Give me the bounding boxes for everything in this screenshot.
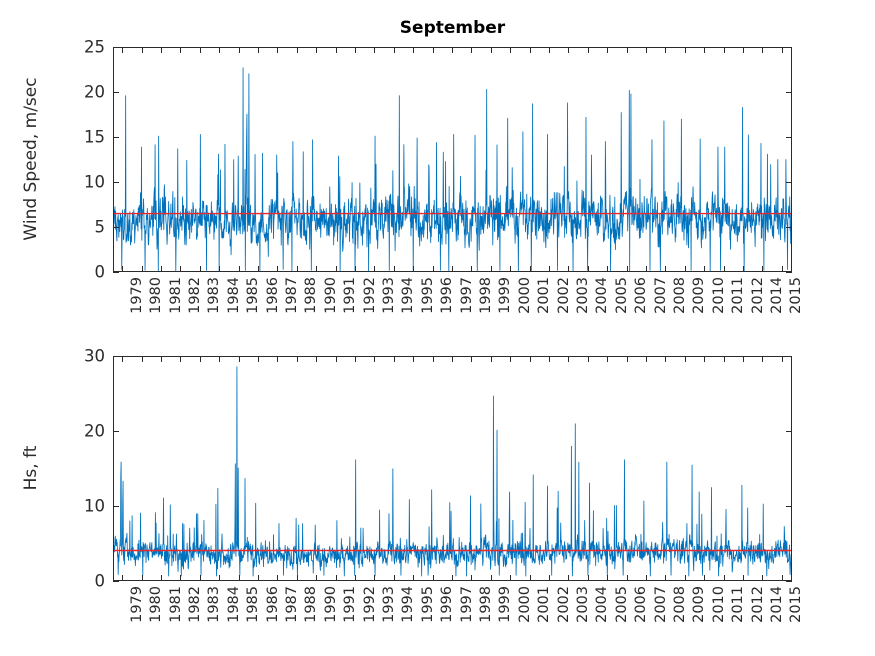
x-tick-mark [549, 47, 550, 53]
x-tick-mark [510, 266, 511, 272]
x-tick-mark [277, 47, 278, 53]
x-tick-label: 2015 [788, 586, 804, 646]
x-tick-mark [374, 356, 375, 362]
x-tick-label: 2006 [633, 277, 649, 337]
x-tick-label: 1998 [478, 277, 494, 337]
x-tick-mark [200, 575, 201, 581]
x-tick-mark [394, 575, 395, 581]
y-tick-mark [786, 137, 792, 138]
x-tick-mark [762, 266, 763, 272]
x-tick-mark [762, 356, 763, 362]
y-tick-label: 30 [49, 347, 105, 366]
x-tick-mark [665, 356, 666, 362]
x-tick-mark [665, 47, 666, 53]
y-tick-mark [113, 227, 119, 228]
x-tick-mark [549, 266, 550, 272]
y-tick-mark [113, 92, 119, 93]
x-tick-label: 1985 [245, 277, 261, 337]
x-tick-mark [122, 575, 123, 581]
x-tick-label: 2003 [575, 586, 591, 646]
y-tick-label: 10 [49, 497, 105, 516]
x-tick-mark [277, 266, 278, 272]
x-tick-label: 2003 [575, 277, 591, 337]
x-tick-mark [549, 575, 550, 581]
y-tick-mark [113, 581, 119, 582]
x-tick-mark [161, 266, 162, 272]
x-tick-label: 1990 [323, 586, 339, 646]
x-tick-mark [258, 575, 259, 581]
y-tick-mark [113, 182, 119, 183]
y-tick-mark [786, 431, 792, 432]
x-tick-mark [588, 575, 589, 581]
x-tick-mark [607, 356, 608, 362]
x-tick-label: 1993 [381, 586, 397, 646]
x-tick-mark [452, 575, 453, 581]
y-tick-label: 20 [49, 83, 105, 102]
x-tick-mark [258, 356, 259, 362]
x-tick-mark [297, 266, 298, 272]
x-tick-label: 1981 [168, 586, 184, 646]
wind-speed-plot-canvas [114, 48, 792, 272]
x-tick-mark [355, 575, 356, 581]
x-tick-label: 1993 [381, 277, 397, 337]
x-tick-label: 2004 [594, 586, 610, 646]
x-tick-label: 2000 [517, 277, 533, 337]
y-tick-label: 10 [49, 173, 105, 192]
x-tick-mark [142, 356, 143, 362]
x-tick-mark [646, 266, 647, 272]
x-tick-label: 1982 [187, 586, 203, 646]
x-tick-mark [491, 575, 492, 581]
x-tick-mark [316, 356, 317, 362]
matlab-figure: September 0510152025 1979198019811982198… [0, 0, 875, 656]
x-tick-mark [180, 47, 181, 53]
x-tick-mark [413, 356, 414, 362]
x-tick-mark [413, 266, 414, 272]
x-tick-mark [219, 356, 220, 362]
x-tick-label: 2001 [536, 586, 552, 646]
x-tick-label: 2015 [788, 277, 804, 337]
x-tick-mark [413, 47, 414, 53]
x-tick-mark [471, 47, 472, 53]
x-tick-mark [200, 266, 201, 272]
x-tick-label: 2001 [536, 277, 552, 337]
x-tick-mark [607, 575, 608, 581]
x-tick-mark [200, 356, 201, 362]
x-tick-mark [374, 266, 375, 272]
x-tick-label: 1980 [148, 586, 164, 646]
x-tick-mark [122, 356, 123, 362]
x-tick-label: 1991 [342, 586, 358, 646]
x-tick-mark [530, 356, 531, 362]
x-tick-mark [627, 575, 628, 581]
x-tick-mark [588, 356, 589, 362]
x-tick-mark [704, 575, 705, 581]
x-tick-label: 1979 [129, 277, 145, 337]
x-tick-mark [530, 266, 531, 272]
data-series-line [114, 68, 792, 271]
x-tick-mark [433, 47, 434, 53]
x-tick-label: 2012 [750, 277, 766, 337]
x-tick-label: 1983 [206, 586, 222, 646]
x-tick-mark [685, 575, 686, 581]
x-tick-mark [239, 356, 240, 362]
x-tick-mark [685, 266, 686, 272]
x-tick-mark [219, 266, 220, 272]
x-tick-mark [646, 356, 647, 362]
x-tick-mark [724, 575, 725, 581]
x-tick-mark [394, 47, 395, 53]
x-tick-mark [452, 356, 453, 362]
x-tick-mark [239, 266, 240, 272]
x-tick-mark [180, 356, 181, 362]
x-tick-mark [627, 266, 628, 272]
x-tick-label: 1981 [168, 277, 184, 337]
x-tick-label: 2008 [672, 277, 688, 337]
x-tick-mark [782, 575, 783, 581]
x-tick-mark [161, 356, 162, 362]
x-tick-mark [782, 356, 783, 362]
x-tick-mark [685, 356, 686, 362]
x-tick-mark [258, 266, 259, 272]
x-tick-label: 1999 [497, 586, 513, 646]
x-tick-mark [762, 575, 763, 581]
y-tick-mark [786, 356, 792, 357]
x-tick-mark [471, 266, 472, 272]
hs-plot-canvas [114, 357, 792, 581]
x-tick-label: 1982 [187, 277, 203, 337]
x-tick-mark [665, 575, 666, 581]
x-tick-label: 2008 [672, 586, 688, 646]
x-tick-mark [782, 47, 783, 53]
x-tick-mark [355, 266, 356, 272]
x-tick-mark [452, 47, 453, 53]
x-tick-label: 2007 [653, 586, 669, 646]
x-tick-mark [122, 47, 123, 53]
x-tick-label: 1987 [284, 277, 300, 337]
x-tick-mark [491, 47, 492, 53]
x-tick-mark [219, 47, 220, 53]
x-tick-mark [607, 47, 608, 53]
x-tick-mark [219, 575, 220, 581]
wind-speed-y-axis-label: Wind Speed, m/sec [21, 29, 41, 289]
x-tick-mark [142, 575, 143, 581]
x-tick-mark [142, 266, 143, 272]
x-tick-mark [336, 356, 337, 362]
y-tick-mark [786, 182, 792, 183]
x-tick-mark [452, 266, 453, 272]
x-tick-mark [627, 356, 628, 362]
x-tick-mark [200, 47, 201, 53]
x-tick-mark [743, 266, 744, 272]
x-tick-mark [297, 575, 298, 581]
x-tick-mark [336, 266, 337, 272]
x-tick-mark [413, 575, 414, 581]
x-tick-mark [568, 266, 569, 272]
x-tick-mark [627, 47, 628, 53]
x-tick-mark [297, 47, 298, 53]
x-tick-label: 2002 [556, 586, 572, 646]
x-tick-label: 2000 [517, 586, 533, 646]
x-tick-mark [549, 356, 550, 362]
x-tick-mark [180, 575, 181, 581]
x-tick-label: 1992 [362, 586, 378, 646]
x-tick-mark [161, 575, 162, 581]
y-tick-mark [113, 431, 119, 432]
x-tick-mark [277, 356, 278, 362]
x-tick-mark [743, 575, 744, 581]
x-tick-label: 1984 [226, 277, 242, 337]
x-tick-mark [724, 47, 725, 53]
x-tick-label: 2014 [769, 277, 785, 337]
x-tick-label: 2004 [594, 277, 610, 337]
x-tick-label: 1988 [303, 586, 319, 646]
x-tick-mark [355, 47, 356, 53]
x-tick-label: 1992 [362, 277, 378, 337]
x-tick-mark [394, 356, 395, 362]
x-tick-label: 2009 [691, 586, 707, 646]
y-tick-mark [786, 47, 792, 48]
x-tick-mark [704, 266, 705, 272]
x-tick-mark [762, 47, 763, 53]
x-tick-label: 1994 [400, 277, 416, 337]
y-tick-mark [113, 272, 119, 273]
y-tick-mark [113, 356, 119, 357]
y-tick-label: 15 [49, 128, 105, 147]
x-tick-label: 2002 [556, 277, 572, 337]
x-tick-mark [704, 47, 705, 53]
x-tick-mark [297, 356, 298, 362]
y-tick-label: 5 [49, 218, 105, 237]
x-tick-label: 2005 [614, 586, 630, 646]
x-tick-label: 1986 [265, 277, 281, 337]
x-tick-mark [510, 47, 511, 53]
x-tick-label: 2011 [730, 586, 746, 646]
x-tick-label: 1994 [400, 586, 416, 646]
x-tick-mark [704, 356, 705, 362]
y-tick-mark [786, 506, 792, 507]
x-tick-mark [607, 266, 608, 272]
wind-speed-axes [113, 47, 792, 272]
hs-axes [113, 356, 792, 581]
x-tick-mark [743, 47, 744, 53]
y-tick-mark [786, 272, 792, 273]
x-tick-mark [510, 575, 511, 581]
x-tick-mark [258, 47, 259, 53]
x-tick-mark [374, 575, 375, 581]
y-tick-mark [113, 47, 119, 48]
x-tick-mark [433, 356, 434, 362]
y-tick-label: 0 [49, 572, 105, 591]
x-tick-mark [646, 575, 647, 581]
x-tick-label: 1983 [206, 277, 222, 337]
x-tick-label: 1988 [303, 277, 319, 337]
x-tick-label: 2010 [711, 277, 727, 337]
x-tick-label: 1995 [420, 586, 436, 646]
x-tick-mark [588, 266, 589, 272]
y-tick-label: 25 [49, 38, 105, 57]
x-tick-mark [180, 266, 181, 272]
x-tick-mark [336, 47, 337, 53]
x-tick-label: 1995 [420, 277, 436, 337]
x-tick-label: 1996 [439, 586, 455, 646]
x-tick-mark [530, 575, 531, 581]
x-tick-mark [471, 356, 472, 362]
y-tick-label: 0 [49, 263, 105, 282]
x-tick-mark [491, 356, 492, 362]
x-tick-label: 1980 [148, 277, 164, 337]
x-tick-mark [239, 575, 240, 581]
x-tick-mark [336, 575, 337, 581]
x-tick-label: 2012 [750, 586, 766, 646]
x-tick-label: 1991 [342, 277, 358, 337]
x-tick-label: 2005 [614, 277, 630, 337]
x-tick-mark [782, 266, 783, 272]
x-tick-mark [724, 356, 725, 362]
x-tick-label: 1999 [497, 277, 513, 337]
x-tick-label: 1986 [265, 586, 281, 646]
x-tick-mark [239, 47, 240, 53]
x-tick-mark [374, 47, 375, 53]
x-tick-mark [316, 575, 317, 581]
y-tick-mark [786, 92, 792, 93]
y-tick-mark [113, 506, 119, 507]
x-tick-mark [665, 266, 666, 272]
x-tick-mark [724, 266, 725, 272]
x-tick-label: 1996 [439, 277, 455, 337]
x-tick-mark [568, 356, 569, 362]
x-tick-label: 2009 [691, 277, 707, 337]
x-tick-mark [122, 266, 123, 272]
x-tick-label: 1984 [226, 586, 242, 646]
x-tick-mark [510, 356, 511, 362]
x-tick-mark [161, 47, 162, 53]
x-tick-mark [394, 266, 395, 272]
x-tick-mark [355, 356, 356, 362]
x-tick-mark [568, 47, 569, 53]
x-tick-label: 1997 [459, 277, 475, 337]
x-tick-label: 2007 [653, 277, 669, 337]
x-tick-mark [142, 47, 143, 53]
x-tick-label: 1979 [129, 586, 145, 646]
x-tick-label: 2010 [711, 586, 727, 646]
x-tick-mark [316, 266, 317, 272]
data-series-line [114, 367, 792, 576]
x-tick-label: 2014 [769, 586, 785, 646]
x-tick-mark [530, 47, 531, 53]
page-title: September [113, 18, 792, 38]
x-tick-mark [646, 47, 647, 53]
x-tick-mark [588, 47, 589, 53]
hs-y-axis-label: Hs, ft [21, 338, 41, 598]
x-tick-mark [568, 575, 569, 581]
x-tick-mark [316, 47, 317, 53]
x-tick-label: 1990 [323, 277, 339, 337]
y-tick-mark [786, 227, 792, 228]
x-tick-label: 1998 [478, 586, 494, 646]
x-tick-mark [277, 575, 278, 581]
x-tick-mark [743, 356, 744, 362]
x-tick-label: 1997 [459, 586, 475, 646]
x-tick-mark [433, 575, 434, 581]
x-tick-label: 1985 [245, 586, 261, 646]
x-tick-label: 1987 [284, 586, 300, 646]
x-tick-mark [491, 266, 492, 272]
y-tick-mark [113, 137, 119, 138]
x-tick-label: 2006 [633, 586, 649, 646]
y-tick-mark [786, 581, 792, 582]
x-tick-label: 2011 [730, 277, 746, 337]
y-tick-label: 20 [49, 422, 105, 441]
x-tick-mark [685, 47, 686, 53]
x-tick-mark [433, 266, 434, 272]
x-tick-mark [471, 575, 472, 581]
